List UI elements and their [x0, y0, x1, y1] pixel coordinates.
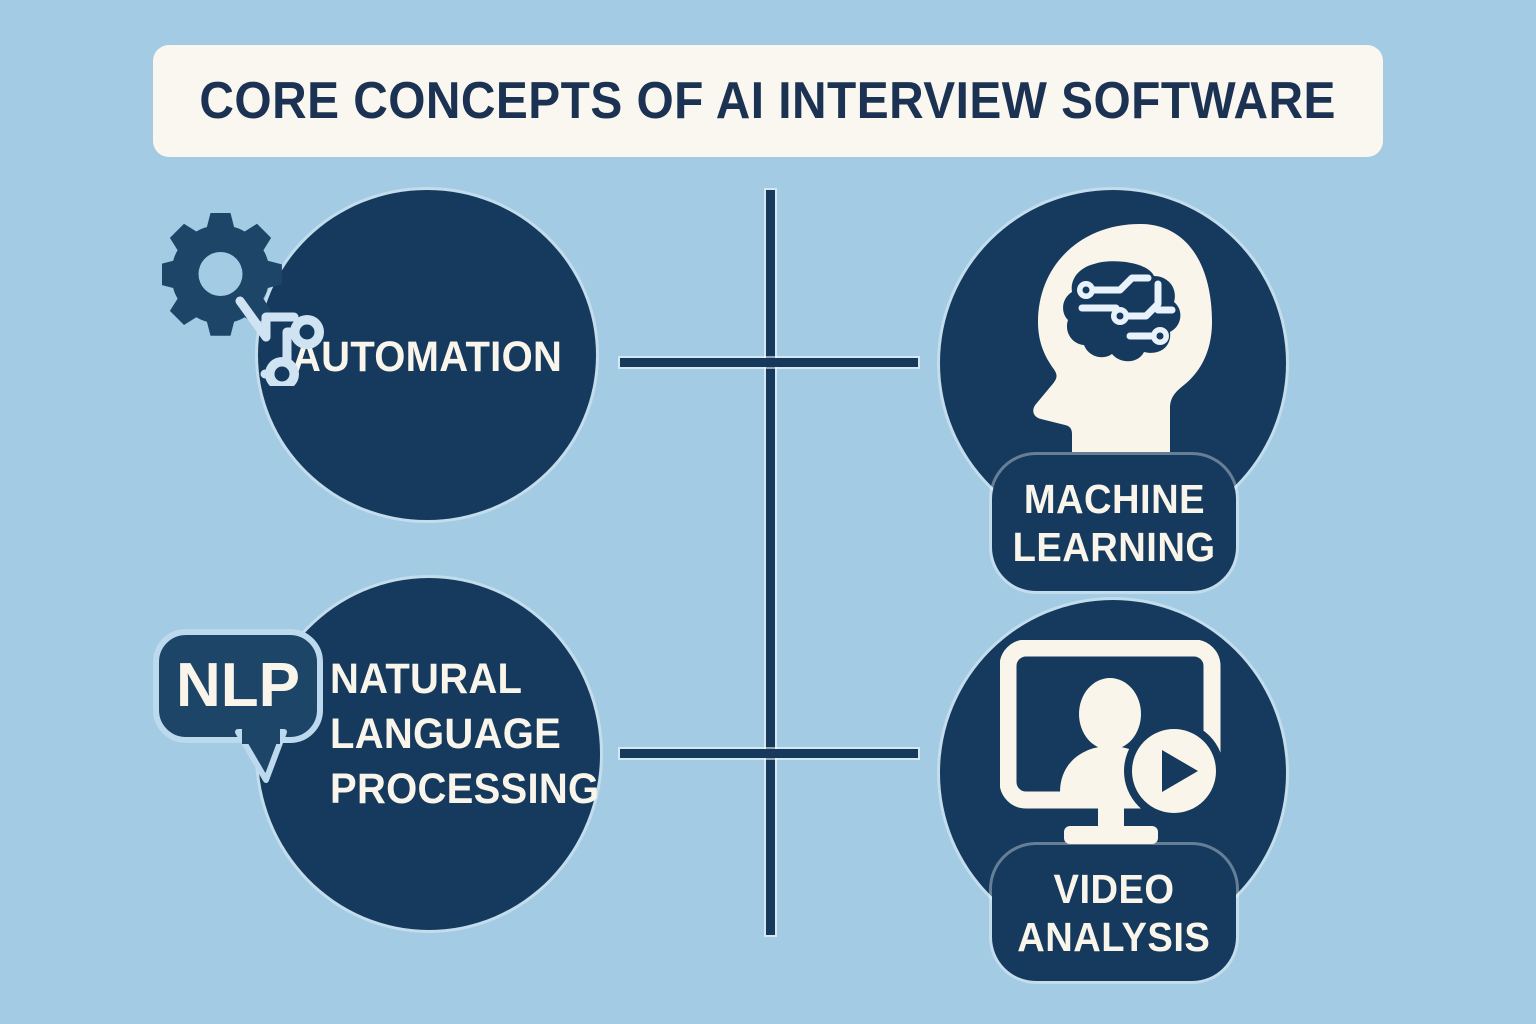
nlp-label: NATURAL LANGUAGE PROCESSING [330, 652, 620, 817]
machine-learning-badge: MACHINE LEARNING [992, 455, 1236, 591]
machine-learning-label-line-1: MACHINE [1023, 475, 1204, 523]
page-title: CORE CONCEPTS OF AI INTERVIEW SOFTWARE [200, 71, 1336, 131]
monitor-person-play-icon [1000, 640, 1240, 860]
machine-learning-label-line-2: LEARNING [1013, 523, 1216, 571]
nlp-label-line-2: LANGUAGE [330, 707, 599, 762]
vertical-divider [766, 190, 775, 935]
video-analysis-badge: VIDEO ANALYSIS [992, 845, 1236, 981]
video-analysis-label-line-1: VIDEO [1054, 865, 1175, 913]
speech-bubble-icon: NLP [152, 628, 342, 793]
head-brain-circuit-icon [1020, 218, 1220, 463]
video-analysis-label-line-2: ANALYSIS [1017, 913, 1210, 961]
infographic-canvas: CORE CONCEPTS OF AI INTERVIEW SOFTWARE [0, 0, 1536, 1024]
automation-node-upper-icon [255, 276, 345, 391]
horizontal-divider-top [620, 358, 918, 367]
nlp-label-line-3: PROCESSING [330, 762, 599, 817]
title-banner: CORE CONCEPTS OF AI INTERVIEW SOFTWARE [153, 45, 1383, 157]
horizontal-divider-bottom [620, 749, 918, 758]
nlp-abbreviation: NLP [176, 651, 300, 720]
nlp-label-line-1: NATURAL [330, 652, 599, 707]
